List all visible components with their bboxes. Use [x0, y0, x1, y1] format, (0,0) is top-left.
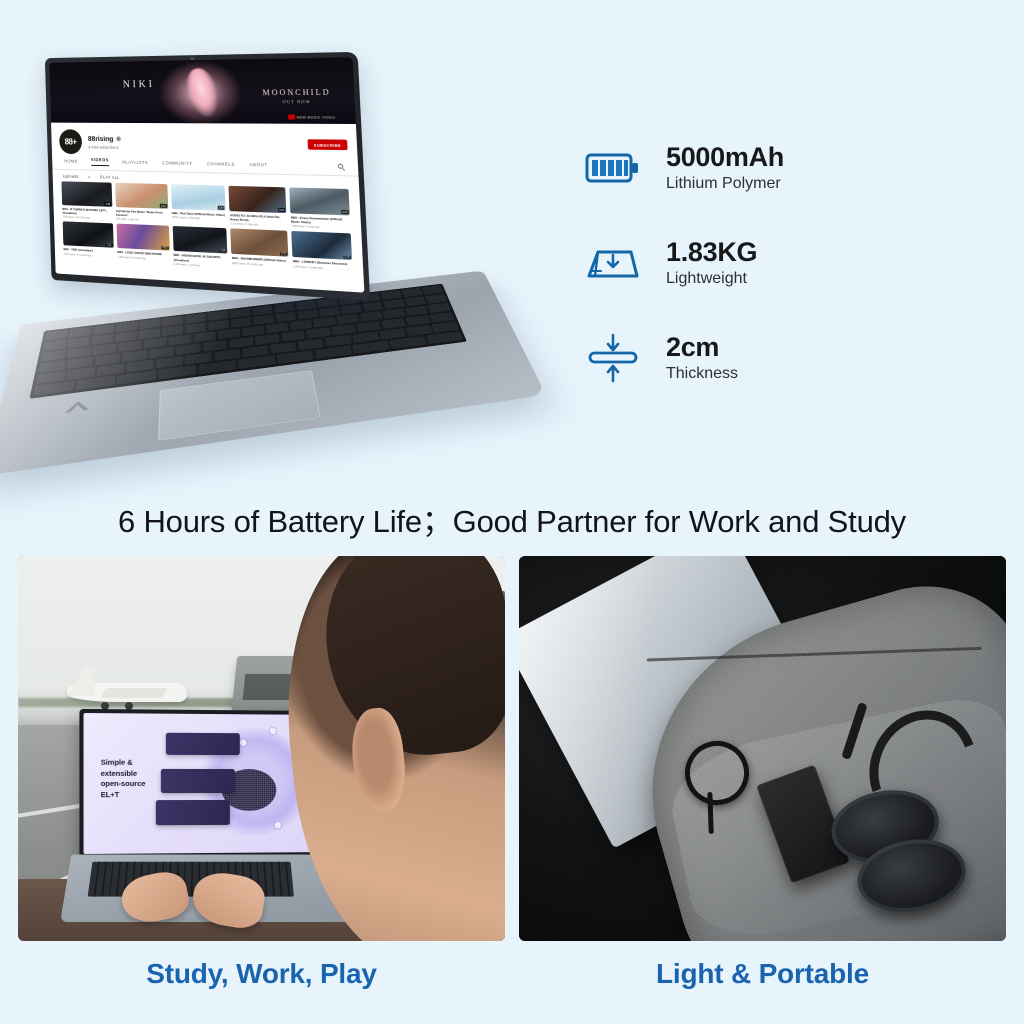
channel-header: 88+ 88rising 4.43M subscribers SUBSCRIBE: [51, 123, 358, 162]
spec-list: 5000mAh Lithium Polymer 1.83KG Lightweig…: [582, 120, 1002, 405]
brand-logo-icon: [65, 399, 90, 413]
thickness-icon: [582, 331, 644, 385]
slide-card: [161, 769, 235, 793]
play-icon: [287, 114, 294, 119]
slide-card: [156, 800, 230, 825]
laptop-lid: NIKI MOONCHILD OUT NOW NEW MUSIC VIDEO 8…: [45, 52, 370, 301]
video-thumbnail: 4:02: [116, 224, 169, 251]
subscribe-button[interactable]: SUBSCRIBE: [307, 139, 347, 150]
tab-home[interactable]: HOME: [64, 159, 78, 164]
video-thumbnail: 3:16: [291, 231, 352, 260]
spec-text-thickness: 2cm Thickness: [666, 332, 738, 383]
banner-album-title: MOONCHILD: [262, 88, 331, 98]
video-card[interactable]: 3:58 NIKI - HIGHSCHOOL IN JAKARTA (Visua…: [172, 226, 228, 268]
spec-row-weight: 1.83KG Lightweight: [582, 215, 1002, 310]
spec-value: 2cm: [666, 332, 738, 363]
photo-panel-light-portable: [519, 556, 1006, 941]
banner-cta[interactable]: NEW MUSIC VIDEO: [287, 114, 335, 119]
battery-icon: [582, 151, 644, 185]
spec-label: Lightweight: [666, 270, 757, 288]
slide-card: [166, 733, 240, 756]
key-row: [33, 332, 463, 397]
video-card[interactable]: 4:10 AUDIO TO: DJ MALAYLA (feat.Taz, Kee…: [229, 186, 287, 228]
channel-name: 88rising: [88, 134, 114, 143]
laptop-illustration: NIKI MOONCHILD OUT NOW NEW MUSIC VIDEO 8…: [10, 42, 570, 492]
tab-playlists[interactable]: PLAYLISTS: [122, 160, 148, 165]
key-row: [38, 312, 455, 373]
video-duration: 3:16: [343, 255, 351, 259]
video-duration: 4:31: [280, 252, 288, 256]
key-row: [43, 294, 448, 351]
page-headline: 6 Hours of Battery Life；Good Partner for…: [0, 496, 1024, 541]
banner-figure: [182, 65, 223, 120]
photo-panel-study-work-play: Simple & extensible open-source EL+T: [18, 556, 505, 941]
banner-artist: NIKI: [122, 79, 154, 91]
channel-subscribers: 4.43M subscribers: [88, 145, 121, 150]
video-meta: 279K views • 9 months ago: [62, 216, 112, 221]
headphones: [807, 727, 1006, 932]
video-card[interactable]: 3:08 NIKI - IF THERE'S NOTHING LEFT... (…: [61, 181, 112, 221]
video-card[interactable]: 4:31 NIKI - BACKBURNER (Official Video) …: [231, 229, 290, 272]
video-thumbnail: 5:22: [115, 183, 168, 209]
laptop-keyboard: [29, 284, 467, 399]
channel-avatar: 88+: [59, 129, 82, 154]
uploads-filter[interactable]: Uploads: [63, 174, 79, 179]
spec-text-battery: 5000mAh Lithium Polymer: [666, 142, 784, 193]
channel-banner: NIKI MOONCHILD OUT NOW NEW MUSIC VIDEO: [49, 57, 356, 124]
search-icon[interactable]: [338, 164, 344, 169]
verified-badge-icon: [116, 136, 121, 141]
video-duration: 3:25: [341, 210, 349, 214]
hero-section: NIKI MOONCHILD OUT NOW NEW MUSIC VIDEO 8…: [0, 0, 1024, 492]
video-duration: 4:02: [161, 246, 168, 250]
video-duration: 3:58: [219, 249, 226, 253]
spec-label: Thickness: [666, 365, 738, 383]
laptop-screen: NIKI MOONCHILD OUT NOW NEW MUSIC VIDEO 8…: [49, 57, 364, 292]
tab-about[interactable]: ABOUT: [249, 162, 267, 167]
video-card[interactable]: 4:02 NIKI - LOSE GUESS SINGAPORE 1.2M vi…: [116, 224, 170, 265]
videos-row: 3:21 NIKI - TIDE (Visualizer) 376K views…: [63, 222, 353, 276]
spec-label: Lithium Polymer: [666, 175, 784, 193]
spec-value: 5000mAh: [666, 142, 784, 173]
hair: [315, 556, 505, 764]
video-card[interactable]: 3:16 NIKI - LOWKEY (Summer Sessions) 1.5…: [291, 231, 352, 275]
spec-row-battery: 5000mAh Lithium Polymer: [582, 120, 1002, 215]
spec-value: 1.83KG: [666, 237, 757, 268]
video-thumbnail: 4:10: [229, 186, 287, 213]
banner-album-sub: OUT NOW: [263, 99, 332, 105]
weight-icon: [582, 242, 644, 284]
key-row: [45, 285, 444, 341]
slide-title: Simple & extensible open-source EL+T: [101, 758, 146, 801]
tab-community[interactable]: COMMUNITY: [162, 160, 193, 166]
video-thumbnail: 4:31: [231, 229, 289, 257]
play-all-button[interactable]: PLAY ALL: [100, 175, 120, 180]
banner-cta-label: NEW MUSIC VIDEO: [297, 115, 336, 119]
video-thumbnail: 3:21: [63, 222, 114, 248]
tab-channels[interactable]: CHANNELS: [207, 161, 235, 167]
video-duration: 4:10: [278, 208, 286, 212]
spec-row-thickness: 2cm Thickness: [582, 310, 1002, 405]
video-duration: 3:08: [104, 202, 111, 206]
video-thumbnail: 3:08: [61, 181, 112, 207]
laptop-base: [0, 271, 546, 477]
tab-videos[interactable]: VIDEOS: [91, 157, 109, 166]
video-card[interactable]: 2:47 NIKI - Plot Twist (Official Music V…: [171, 184, 227, 225]
video-card[interactable]: 5:22 Joji Nectar Fan Meets "Reals From F…: [115, 183, 168, 223]
video-thumbnail: 3:25: [289, 187, 349, 215]
airplane: [67, 660, 197, 712]
key-row: [40, 303, 451, 362]
caption-study-work-play: Study, Work, Play: [18, 958, 505, 990]
video-duration: 2:47: [218, 206, 225, 210]
video-card[interactable]: 3:25 NIKI - Every Summertime (Official M…: [289, 187, 350, 230]
laptop-trackpad[interactable]: [158, 370, 320, 441]
video-duration: 5:22: [160, 204, 167, 208]
key-row: [36, 322, 460, 385]
video-duration: 3:21: [106, 243, 113, 247]
video-card[interactable]: 3:21 NIKI - TIDE (Visualizer) 376K views…: [63, 222, 114, 262]
spec-text-weight: 1.83KG Lightweight: [666, 237, 757, 288]
video-thumbnail: 2:47: [171, 184, 226, 211]
chevron-down-icon[interactable]: ▾: [88, 175, 90, 179]
videos-grid: 3:08 NIKI - IF THERE'S NOTHING LEFT... (…: [53, 181, 364, 276]
video-thumbnail: 3:58: [172, 226, 227, 254]
channel-name-row: 88rising: [88, 134, 121, 143]
caption-light-portable: Light & Portable: [519, 958, 1006, 990]
banner-album: MOONCHILD OUT NOW: [262, 88, 331, 106]
